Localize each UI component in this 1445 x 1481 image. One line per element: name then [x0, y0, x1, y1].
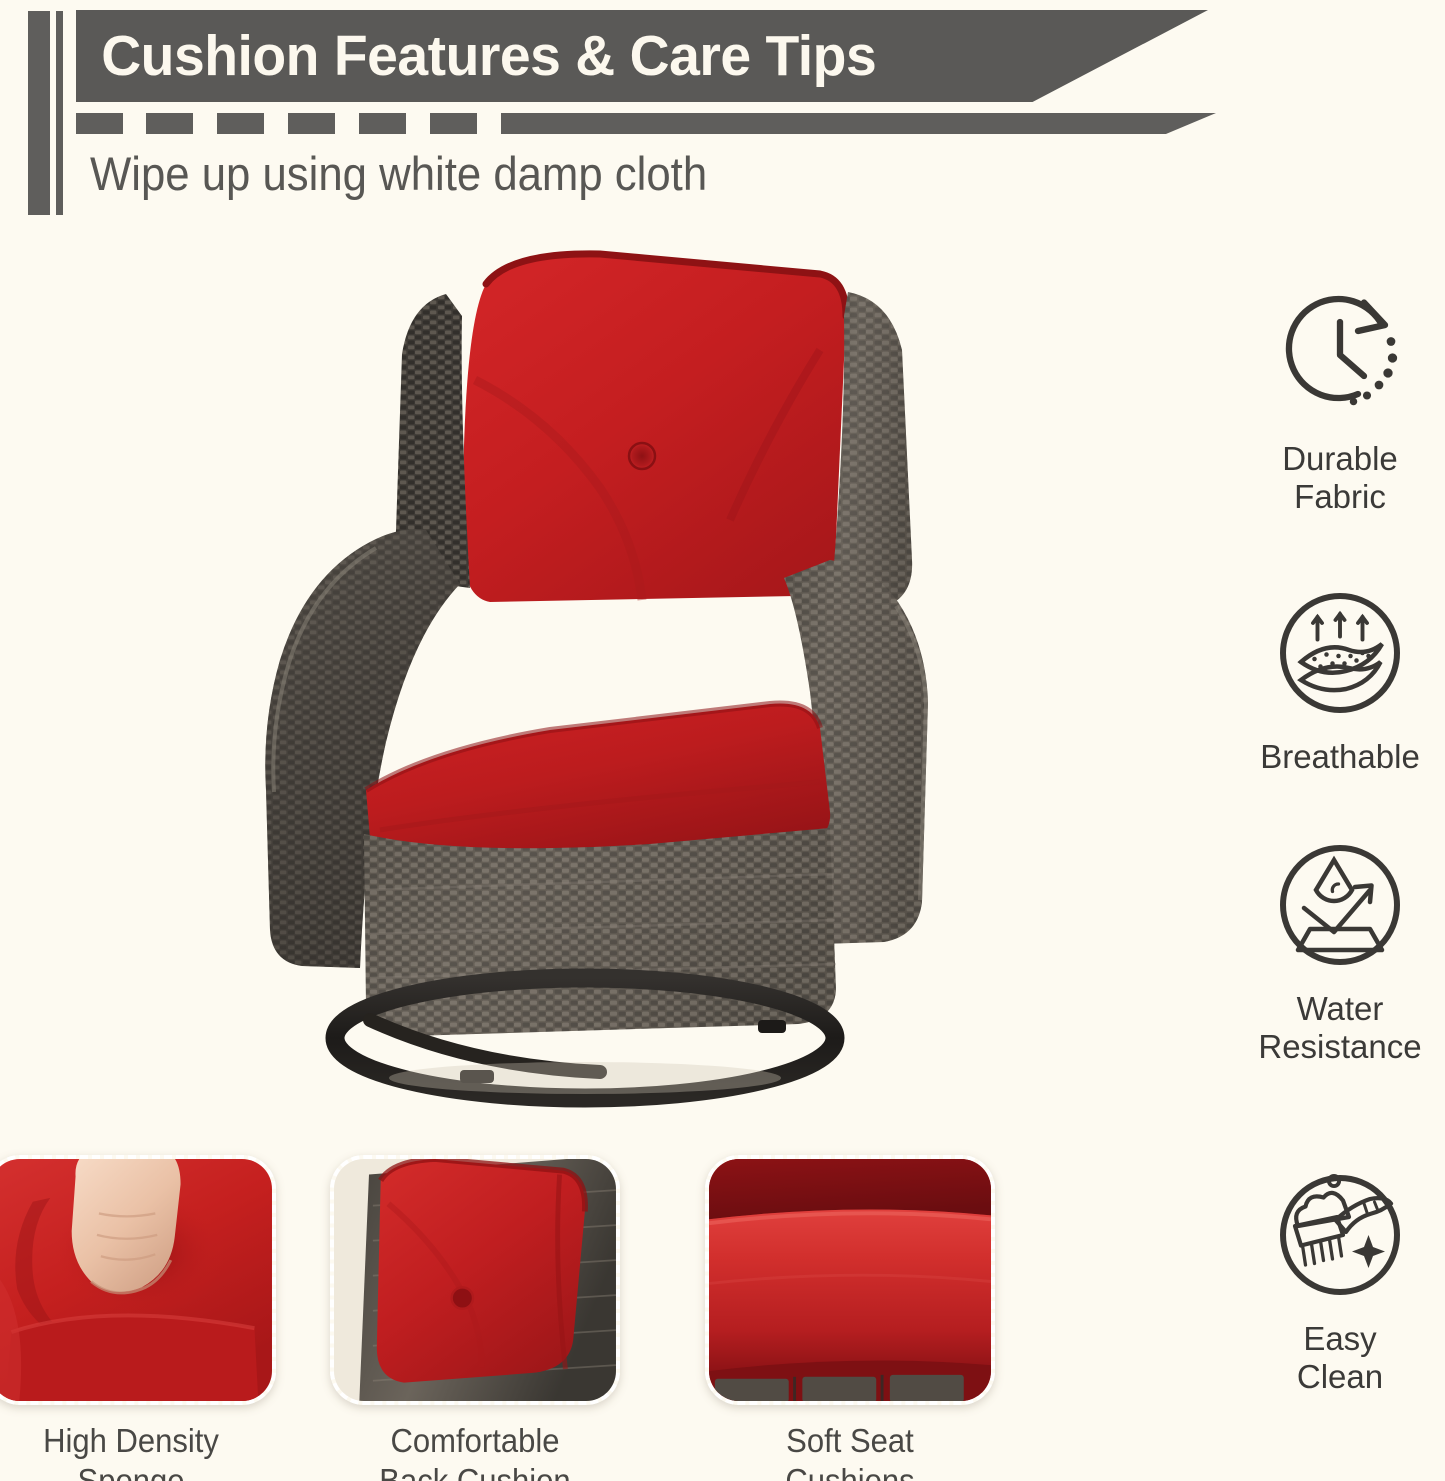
clock-durability-icon	[1265, 280, 1415, 430]
thumbnail-frame	[705, 1155, 995, 1405]
feature-water-resistance: Water Resistance	[1235, 830, 1445, 1067]
feature-list: Durable Fabric Bre	[1235, 280, 1445, 1420]
product-image-swivel-chair	[130, 230, 950, 1110]
easy-clean-brush-icon	[1265, 1160, 1415, 1310]
rule-dash	[146, 113, 193, 134]
page-subtitle: Wipe up using white damp cloth	[90, 145, 707, 204]
header-accent-bar-thick	[28, 11, 50, 215]
thumbnail-strip: High Density Sponge	[0, 1155, 1100, 1481]
rule-dash	[359, 113, 406, 134]
thumbnail-caption: High Density Sponge	[0, 1421, 267, 1481]
feature-label: Water Resistance	[1235, 990, 1445, 1067]
chair-illustration	[130, 230, 950, 1110]
title-banner: Cushion Features & Care Tips	[76, 10, 1208, 102]
rule-dash	[217, 113, 264, 134]
feature-label: Durable Fabric	[1235, 440, 1445, 517]
thumbnail-frame	[0, 1155, 276, 1405]
back-cushion-closeup-image	[334, 1159, 616, 1402]
thumbnail-caption: Comfortable Back Cushion	[339, 1421, 612, 1481]
header: Cushion Features & Care Tips Wipe up usi…	[0, 0, 1445, 225]
fist-pressing-cushion-image	[0, 1159, 272, 1402]
header-accent-bar-thin	[56, 11, 63, 215]
water-resistance-icon	[1265, 830, 1415, 980]
back-cushion	[463, 254, 846, 602]
seat-cushion-closeup-image	[709, 1159, 991, 1402]
page-title: Cushion Features & Care Tips	[76, 28, 876, 85]
breathable-fabric-icon	[1265, 578, 1415, 728]
feature-label: Breathable	[1235, 738, 1445, 776]
thumbnail-caption: Soft Seat Cushions	[714, 1421, 987, 1481]
rule-dash	[288, 113, 335, 134]
thumbnail-high-density-sponge: High Density Sponge	[0, 1155, 276, 1405]
header-rule	[76, 113, 1216, 135]
thumbnail-comfortable-back-cushion: Comfortable Back Cushion	[330, 1155, 620, 1405]
thumbnail-soft-seat-cushions: Soft Seat Cushions	[705, 1155, 995, 1405]
thumbnail-frame	[330, 1155, 620, 1405]
rule-dash	[76, 113, 123, 134]
feature-durable-fabric: Durable Fabric	[1235, 280, 1445, 517]
feature-label: Easy Clean	[1235, 1320, 1445, 1397]
infographic-page: Cushion Features & Care Tips Wipe up usi…	[0, 0, 1445, 1481]
feature-easy-clean: Easy Clean	[1235, 1160, 1445, 1397]
rule-dash	[430, 113, 477, 134]
feature-breathable: Breathable	[1235, 578, 1445, 776]
rule-solid-bar	[501, 113, 1216, 134]
